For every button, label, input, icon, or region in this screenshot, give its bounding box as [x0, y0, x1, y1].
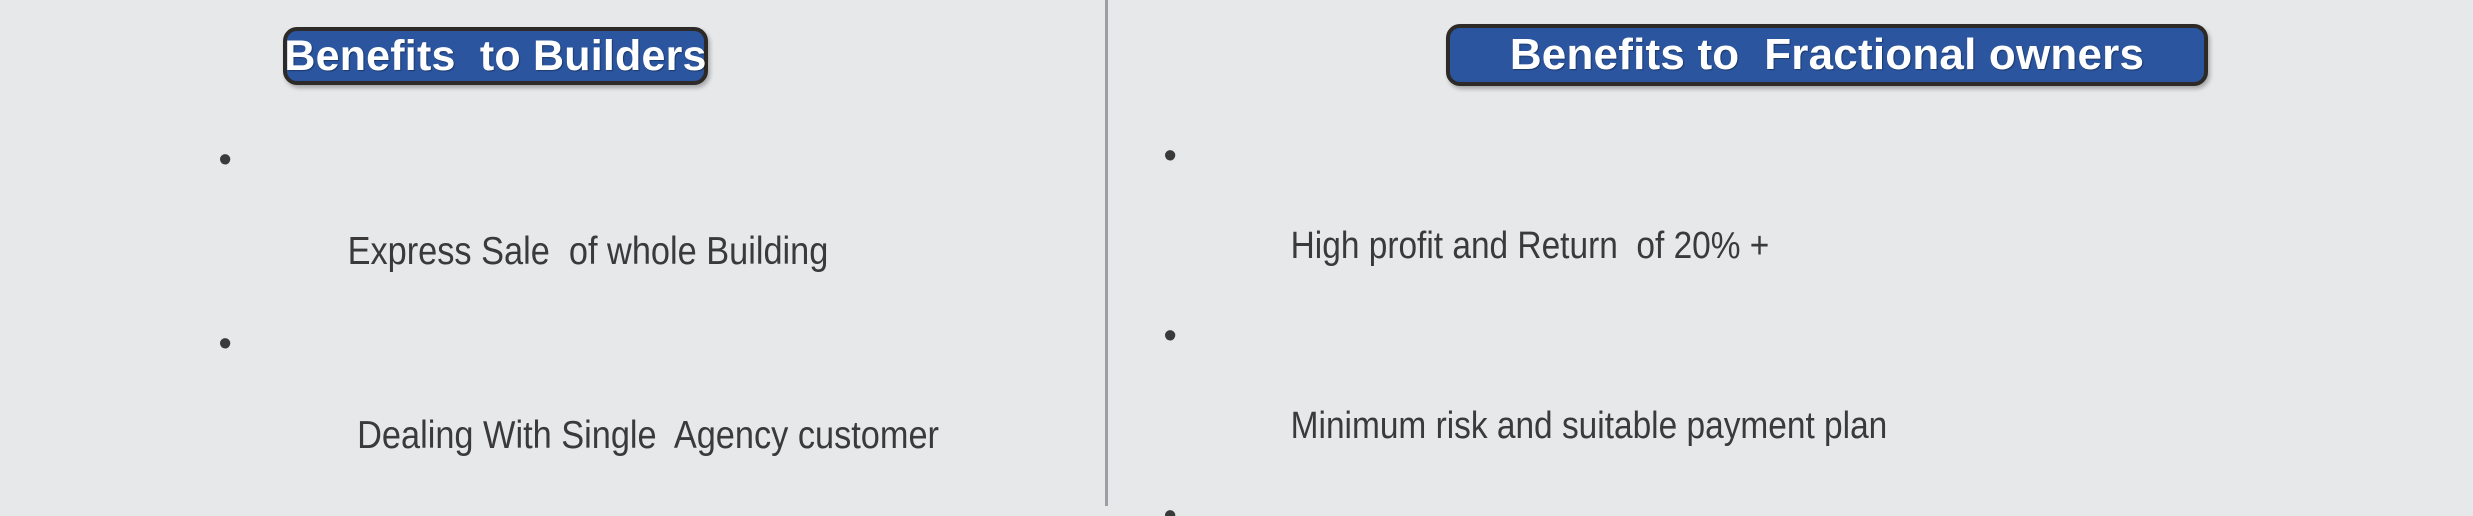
header-label-builders: Benefits to Builders	[284, 35, 706, 78]
header-pill-fractional-owners[interactable]: Benefits to Fractional owners	[1446, 24, 2208, 86]
column-fractional-owners: Benefits to Fractional owners • High pro…	[1108, 0, 2473, 516]
bullet-dot-icon: •	[219, 321, 233, 367]
bullet-dot-icon: •	[1164, 314, 1178, 359]
list-item: • Reduction in Marketing Expanses	[215, 505, 963, 516]
list-item: • High profit and Return of 20% +	[1160, 134, 2304, 314]
bullet-dot-icon: •	[1164, 134, 1178, 179]
bullet-dot-icon: •	[1164, 494, 1178, 516]
bullet-dot-icon: •	[219, 137, 233, 183]
slide-canvas: Benefits to Builders • Express Sale of w…	[0, 0, 2473, 516]
list-item-label: Express Sale of whole Building	[348, 230, 829, 273]
bullet-list-fractional-owners: • High profit and Return of 20% + • Mini…	[1160, 134, 2460, 516]
list-item: • Dealing With Single Agency customer	[215, 321, 963, 505]
bullet-dot-icon: •	[219, 505, 233, 516]
list-item-label: Dealing With Single Agency customer	[348, 414, 939, 457]
column-builders: Benefits to Builders • Express Sale of w…	[0, 0, 1105, 516]
list-item-label: High profit and Return of 20% +	[1291, 225, 1770, 267]
list-item: • Minimum risk and suitable payment plan	[1160, 314, 2304, 494]
header-pill-builders[interactable]: Benefits to Builders	[283, 27, 708, 85]
list-item: • Express Sale of whole Building	[215, 137, 963, 321]
bullet-list-builders: • Express Sale of whole Building • Deali…	[215, 137, 1065, 516]
list-item: • Lower capital, Lower risk and Complete…	[1160, 494, 2304, 516]
list-item-label: Minimum risk and suitable payment plan	[1291, 405, 1888, 447]
header-label-fractional-owners: Benefits to Fractional owners	[1510, 33, 2144, 77]
